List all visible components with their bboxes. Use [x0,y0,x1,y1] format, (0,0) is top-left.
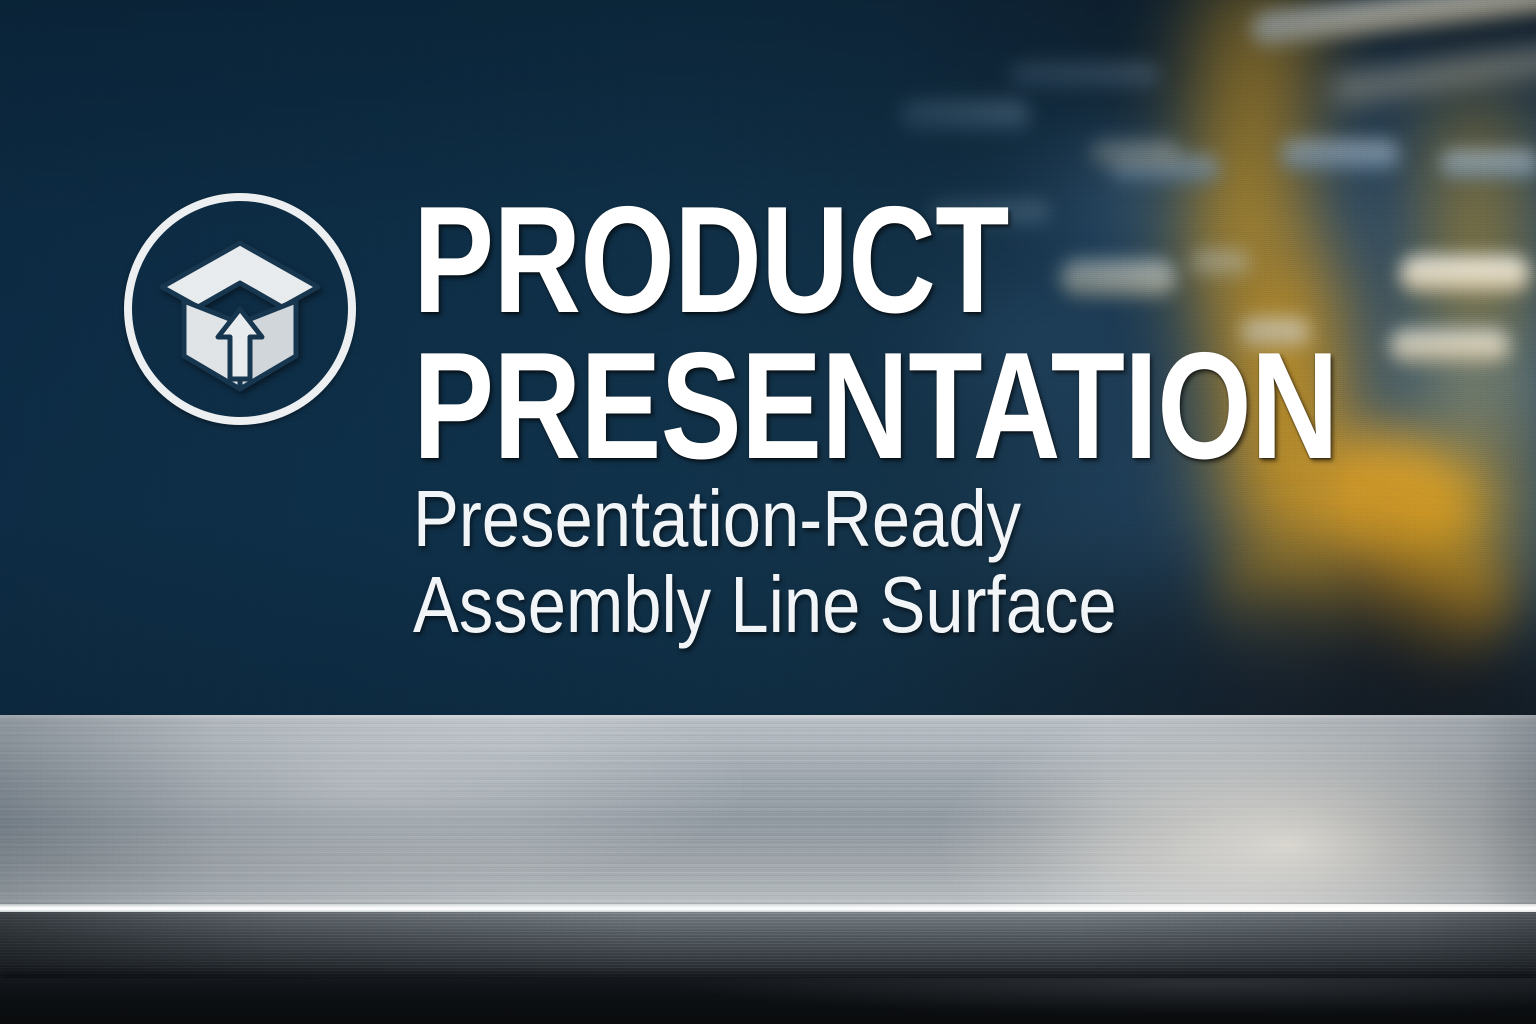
open-box-icon [132,201,348,417]
subtitle-line-1: Presentation-Ready [413,476,1117,562]
page-subtitle: Presentation-Ready Assembly Line Surface [413,476,1117,649]
metal-front-edge-shading [0,912,1536,980]
floor-sheen [0,978,1536,1024]
page-title: PRODUCT PRESENTATION [413,188,1338,480]
title-line-1: PRODUCT [413,188,1338,334]
metal-edge-shading [0,715,1536,909]
brushed-metal-surface [0,715,1536,1024]
title-line-2: PRESENTATION [413,334,1338,480]
subtitle-line-2: Assembly Line Surface [413,562,1117,648]
slide-canvas: PRODUCT PRESENTATION Presentation-Ready … [0,0,1536,1024]
open-box-badge [124,193,356,425]
